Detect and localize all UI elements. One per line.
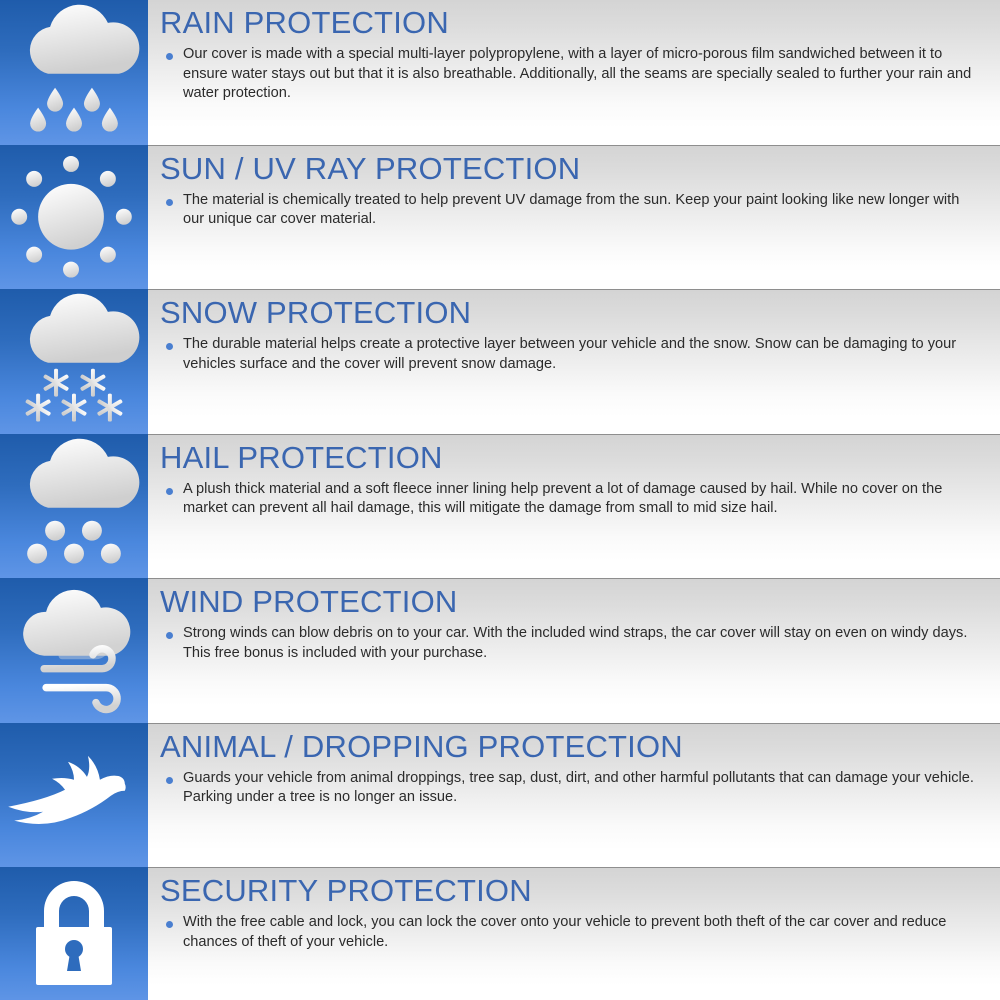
feature-heading: SNOW PROTECTION xyxy=(156,293,986,333)
bullet-dot-icon xyxy=(166,53,173,60)
feature-bullet: A plush thick material and a soft fleece… xyxy=(156,480,986,519)
feature-row: SECURITY PROTECTION With the free cable … xyxy=(0,867,1000,1000)
feature-body: Guards your vehicle from animal dropping… xyxy=(183,769,983,808)
padlock-icon xyxy=(0,867,148,1000)
feature-bullet: Our cover is made with a special multi-l… xyxy=(156,45,986,104)
feature-row: SNOW PROTECTION The durable material hel… xyxy=(0,289,1000,434)
bullet-dot-icon xyxy=(166,632,173,639)
bullet-dot-icon xyxy=(166,488,173,495)
feature-heading: RAIN PROTECTION xyxy=(156,3,986,43)
sun-icon xyxy=(0,145,148,290)
bullet-dot-icon xyxy=(166,777,173,784)
feature-body: Our cover is made with a special multi-l… xyxy=(183,45,983,104)
feature-content: RAIN PROTECTION Our cover is made with a… xyxy=(148,0,1000,145)
feature-body: Strong winds can blow debris on to your … xyxy=(183,624,983,663)
feature-row: HAIL PROTECTION A plush thick material a… xyxy=(0,434,1000,579)
feature-row: ANIMAL / DROPPING PROTECTION Guards your… xyxy=(0,723,1000,868)
bullet-dot-icon xyxy=(166,921,173,928)
rain-cloud-icon xyxy=(0,0,148,145)
feature-row: RAIN PROTECTION Our cover is made with a… xyxy=(0,0,1000,145)
feature-row: SUN / UV RAY PROTECTION The material is … xyxy=(0,145,1000,290)
feature-content: SNOW PROTECTION The durable material hel… xyxy=(148,289,1000,434)
feature-heading: ANIMAL / DROPPING PROTECTION xyxy=(156,727,986,767)
feature-row: WIND PROTECTION Strong winds can blow de… xyxy=(0,578,1000,723)
feature-content: SECURITY PROTECTION With the free cable … xyxy=(148,867,1000,1000)
feature-bullet: The durable material helps create a prot… xyxy=(156,335,986,374)
feature-body: A plush thick material and a soft fleece… xyxy=(183,480,983,519)
hail-cloud-icon xyxy=(0,434,148,579)
bullet-dot-icon xyxy=(166,343,173,350)
feature-content: WIND PROTECTION Strong winds can blow de… xyxy=(148,578,1000,723)
features-infographic: RAIN PROTECTION Our cover is made with a… xyxy=(0,0,1000,1000)
wind-cloud-icon xyxy=(0,578,148,723)
bird-icon xyxy=(0,723,148,868)
feature-heading: SECURITY PROTECTION xyxy=(156,871,986,911)
feature-body: The durable material helps create a prot… xyxy=(183,335,983,374)
feature-bullet: The material is chemically treated to he… xyxy=(156,191,986,230)
feature-heading: SUN / UV RAY PROTECTION xyxy=(156,149,986,189)
feature-body: The material is chemically treated to he… xyxy=(183,191,983,230)
feature-heading: WIND PROTECTION xyxy=(156,582,986,622)
feature-body: With the free cable and lock, you can lo… xyxy=(183,913,983,952)
bullet-dot-icon xyxy=(166,199,173,206)
feature-bullet: With the free cable and lock, you can lo… xyxy=(156,913,986,952)
feature-heading: HAIL PROTECTION xyxy=(156,438,986,478)
feature-bullet: Guards your vehicle from animal dropping… xyxy=(156,769,986,808)
feature-content: SUN / UV RAY PROTECTION The material is … xyxy=(148,145,1000,290)
feature-content: ANIMAL / DROPPING PROTECTION Guards your… xyxy=(148,723,1000,868)
feature-content: HAIL PROTECTION A plush thick material a… xyxy=(148,434,1000,579)
snow-cloud-icon xyxy=(0,289,148,434)
feature-bullet: Strong winds can blow debris on to your … xyxy=(156,624,986,663)
